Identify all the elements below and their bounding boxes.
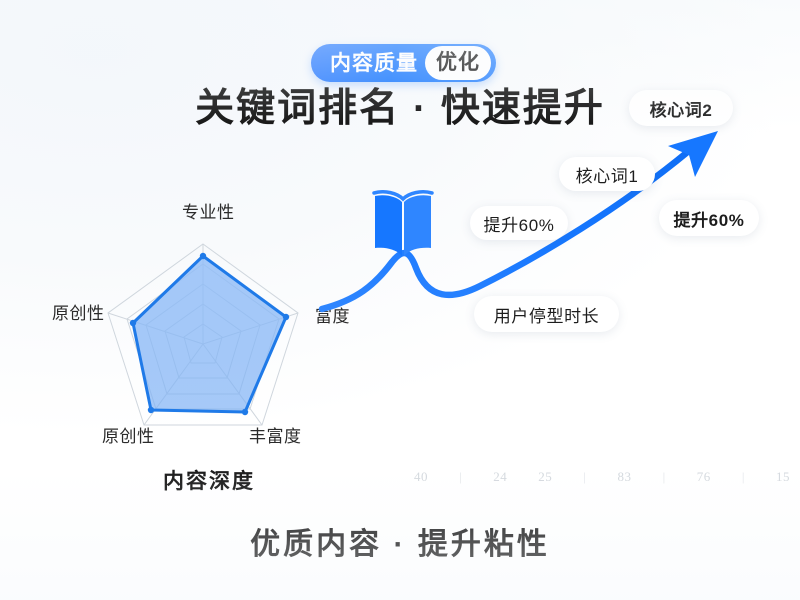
callout-dwell-time[interactable]: 用户停型时长 (474, 296, 619, 332)
section-caption: 内容深度 (163, 465, 255, 495)
badge-chip: 优化 (425, 46, 491, 80)
axis-tick: 15 (776, 469, 790, 485)
radar-axis-label-right: 富度 (315, 302, 350, 327)
radar-chart (58, 232, 348, 447)
radar-axis-label-left: 原创性 (52, 299, 105, 324)
axis-tick: | (583, 469, 586, 485)
quality-badge: 内容质量 优化 (311, 44, 496, 82)
open-book-icon (372, 186, 434, 260)
badge-label: 内容质量 (330, 53, 418, 74)
axis-tick: | (742, 469, 745, 485)
radar-svg (58, 232, 348, 447)
poster-canvas: 内容质量 优化 关键词排名 · 快速提升 (0, 0, 800, 600)
axis-tick: | (459, 469, 462, 485)
callout-keyword-2[interactable]: 核心词2 (629, 90, 733, 126)
axis-tick: 83 (618, 469, 632, 485)
radar-axis-label-bottom-left: 原创性 (102, 422, 155, 447)
axis-tick: 25 (538, 469, 552, 485)
arrow-head-icon (668, 131, 718, 177)
radar-axis-label-bottom-right: 丰富度 (249, 422, 302, 447)
axis-tick: 76 (697, 469, 711, 485)
axis-tick: | (663, 469, 666, 485)
axis-tick-row: 40 | 24 25 | 83 | 76 | 15 (414, 466, 790, 488)
callout-keyword-1[interactable]: 核心词1 (559, 157, 655, 191)
axis-tick: 24 (493, 469, 507, 485)
footer-title: 优质内容 · 提升粘性 (0, 519, 800, 563)
callout-uplift-left[interactable]: 提升60% (470, 206, 568, 240)
axis-tick: 40 (414, 469, 428, 485)
callout-uplift-right[interactable]: 提升60% (659, 200, 759, 236)
radar-axis-label-top: 专业性 (182, 198, 235, 223)
radar-series-area (133, 256, 286, 412)
